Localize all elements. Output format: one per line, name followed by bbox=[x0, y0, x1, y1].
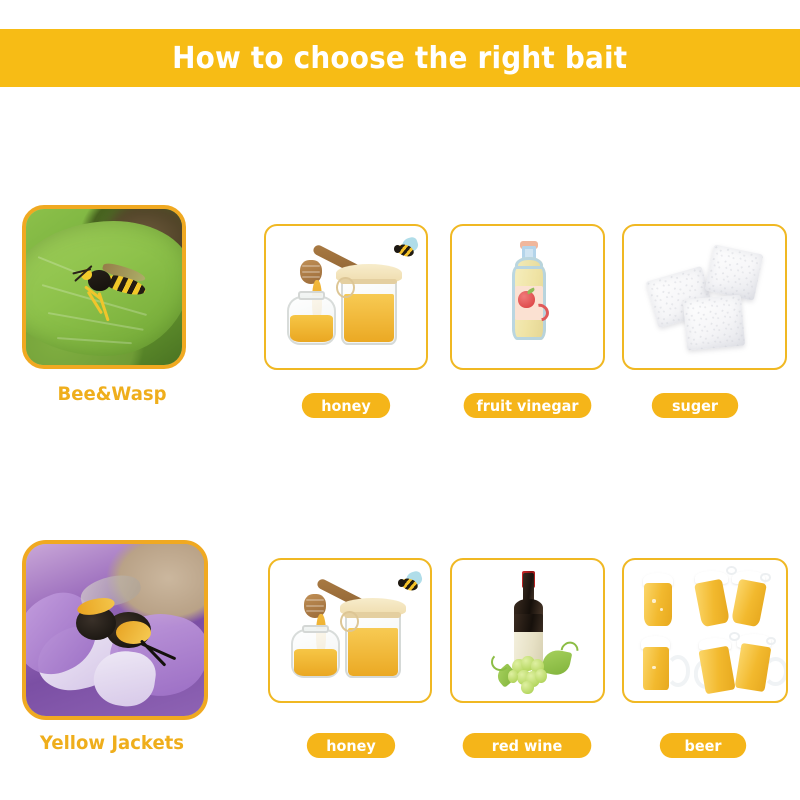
bait-card-suger[interactable] bbox=[622, 224, 787, 370]
wasp-figure bbox=[62, 250, 149, 322]
beer-glass-single bbox=[640, 573, 676, 627]
page-title: How to choose the right bait bbox=[172, 41, 627, 76]
bait-row-yellow-jackets: Yellow Jackets honey bbox=[0, 540, 800, 785]
wine-bottle-grapes-illustration bbox=[452, 560, 603, 701]
bait-label-fruit-vinegar: fruit vinegar bbox=[464, 393, 592, 418]
beer-glasses-clinking bbox=[692, 568, 770, 627]
bait-card-honey[interactable] bbox=[268, 558, 432, 703]
wasp-on-leaf-photo bbox=[22, 205, 186, 369]
bait-card-red-wine[interactable] bbox=[450, 558, 605, 703]
vinegar-bottle-illustration bbox=[452, 226, 603, 368]
bait-label-beer: beer bbox=[660, 733, 746, 758]
insect-caption: Bee&Wasp bbox=[27, 383, 198, 405]
bee-icon bbox=[396, 574, 422, 594]
insect-block-yellow-jackets: Yellow Jackets bbox=[22, 540, 202, 754]
honey-jars-illustration bbox=[270, 560, 430, 701]
bee-icon bbox=[392, 240, 418, 260]
header-banner: How to choose the right bait bbox=[0, 29, 800, 87]
bumblebee-figure bbox=[54, 575, 171, 671]
honey-jars-illustration bbox=[266, 226, 426, 368]
bait-label-honey: honey bbox=[307, 733, 395, 758]
sugar-cubes-photo bbox=[624, 226, 785, 368]
bumblebee-on-flower-photo bbox=[22, 540, 208, 720]
bait-card-honey[interactable] bbox=[264, 224, 428, 370]
insect-caption: Yellow Jackets bbox=[27, 732, 198, 754]
bait-label-honey: honey bbox=[302, 393, 390, 418]
bait-row-bee-wasp: Bee&Wasp honey bbox=[0, 205, 800, 435]
bait-card-fruit-vinegar[interactable] bbox=[450, 224, 605, 370]
beer-mug-single bbox=[640, 636, 684, 690]
insect-block-bee-wasp: Bee&Wasp bbox=[22, 205, 202, 405]
beer-mugs-clinking bbox=[694, 633, 778, 692]
bait-label-red-wine: red wine bbox=[463, 733, 592, 758]
bait-label-suger: suger bbox=[652, 393, 738, 418]
bait-card-beer[interactable] bbox=[622, 558, 788, 703]
beer-glasses-illustration bbox=[624, 560, 786, 701]
